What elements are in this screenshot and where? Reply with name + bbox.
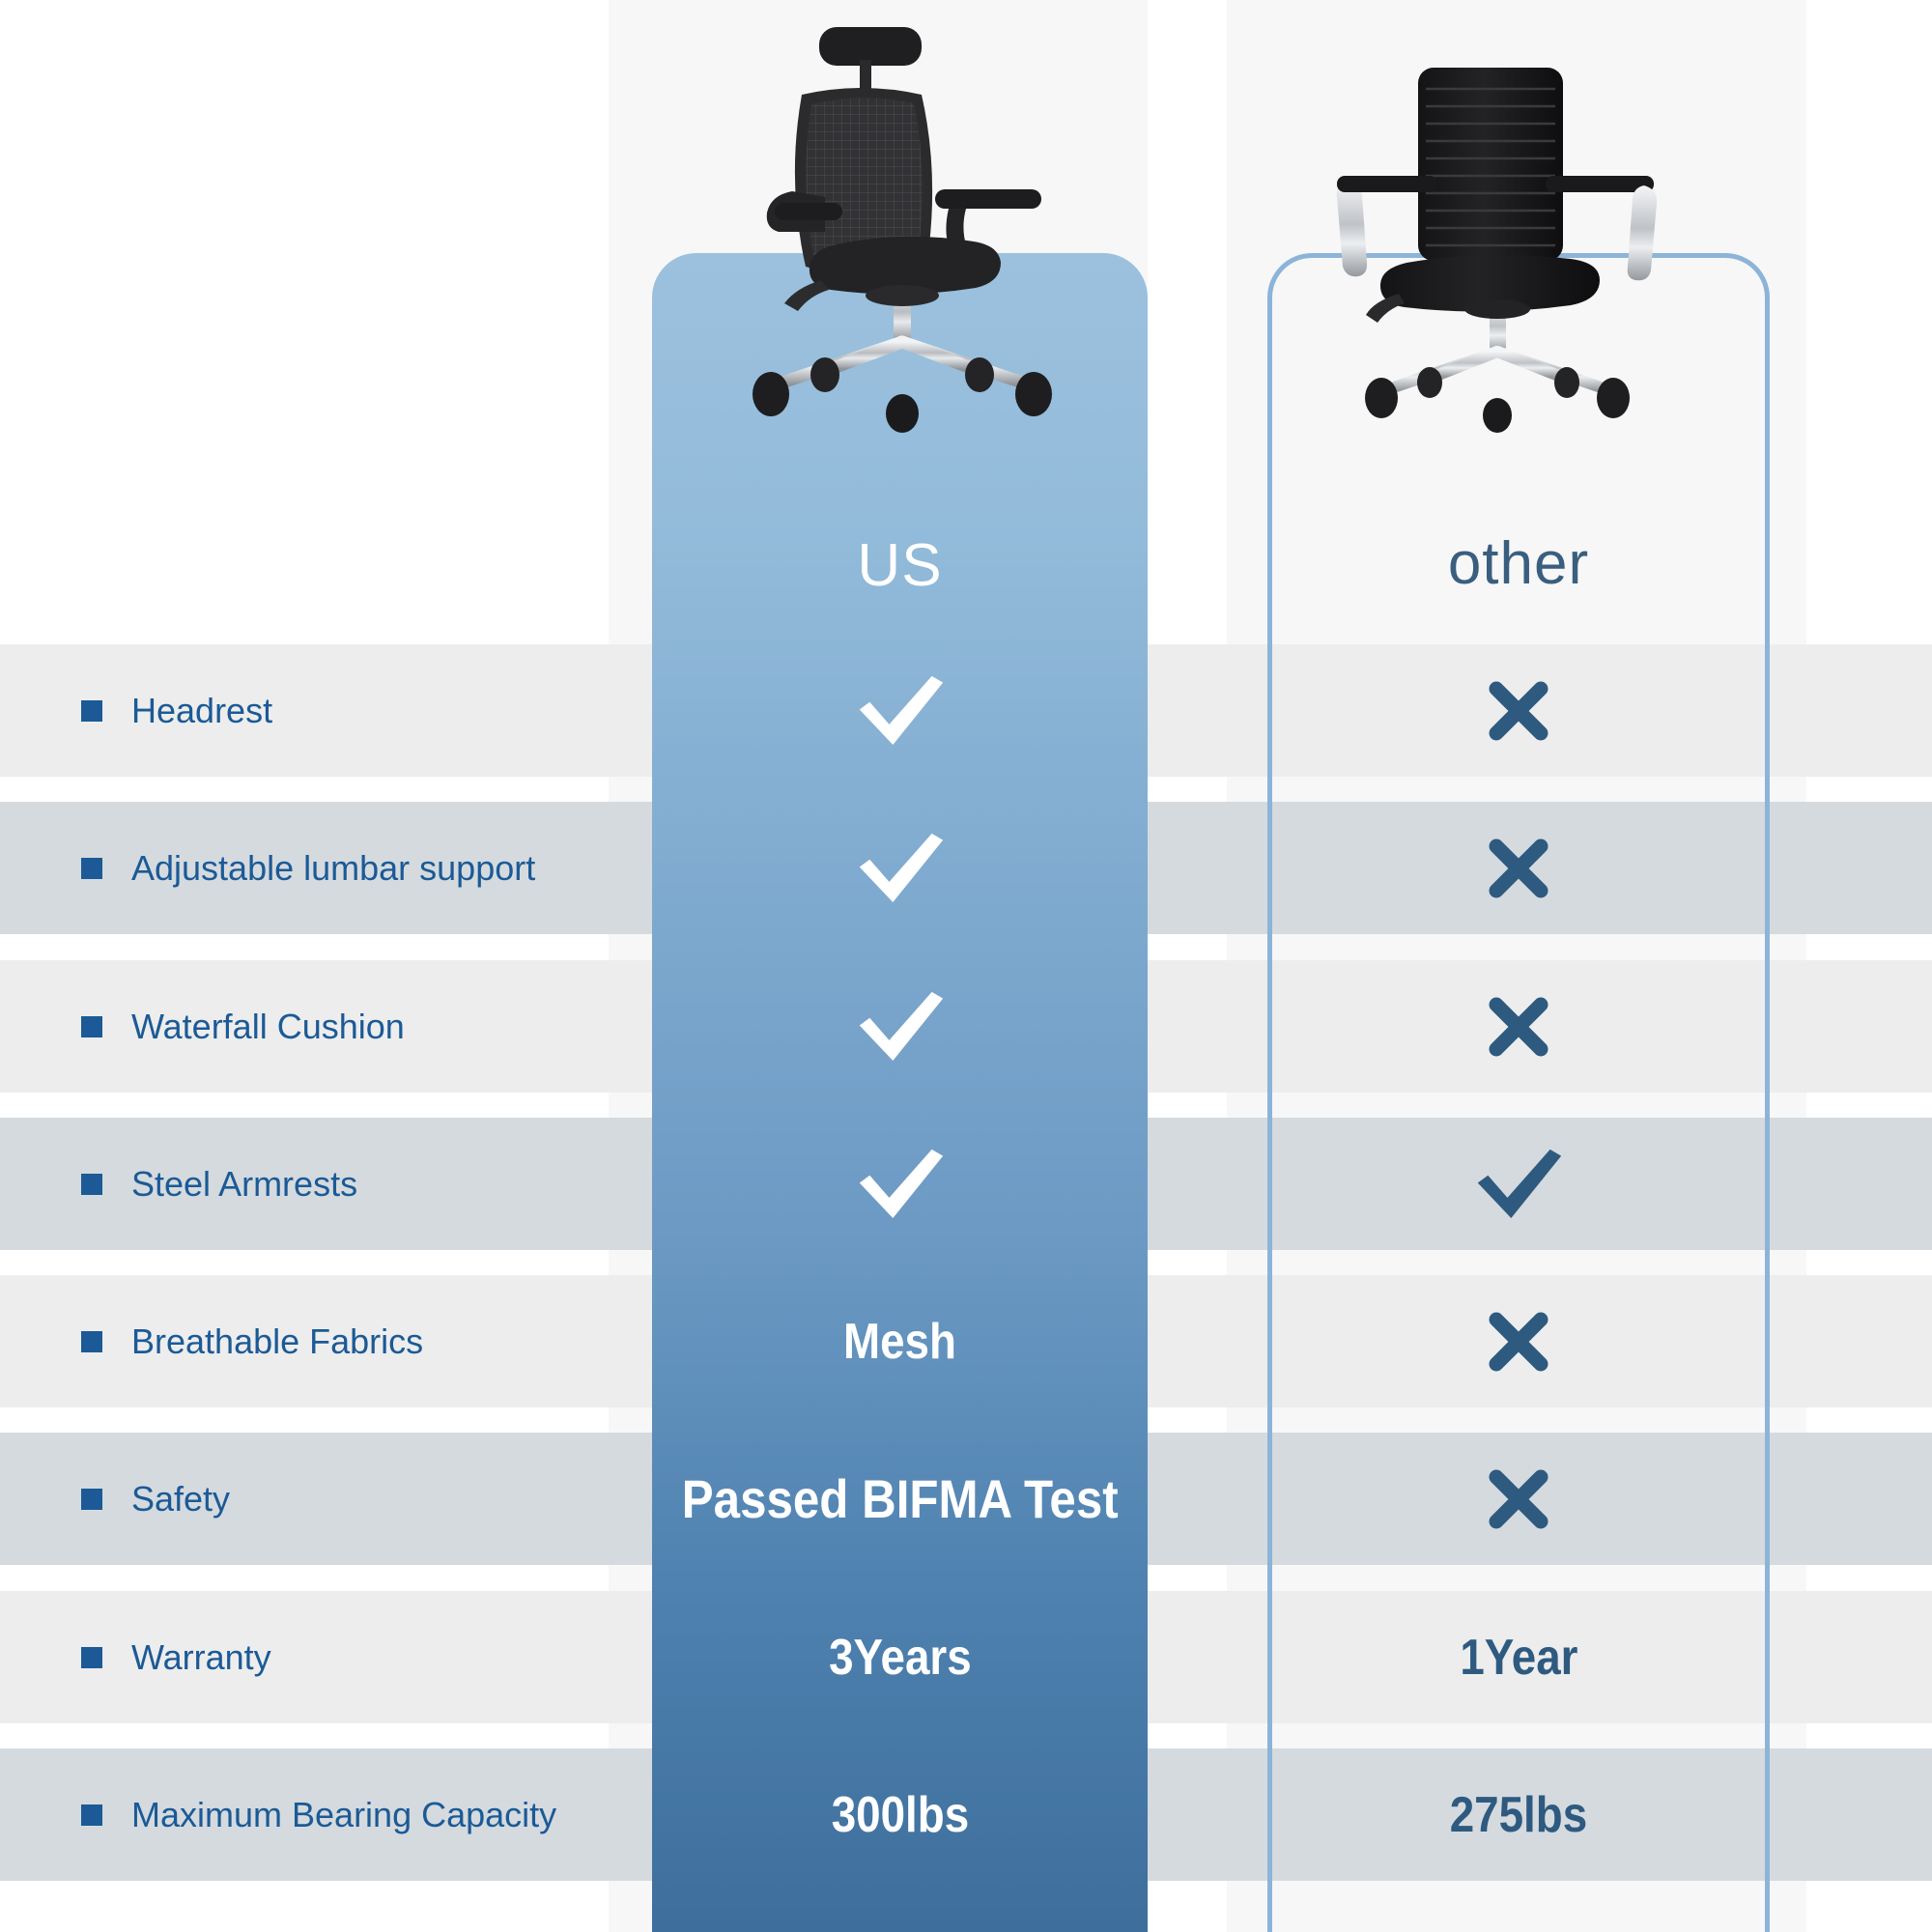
cell-us: Mesh [652,1284,1148,1400]
check-icon [854,1148,947,1220]
cell-us: 3Years [652,1600,1148,1716]
cell-other: 275lbs [1267,1757,1770,1873]
square-bullet-icon [81,1647,102,1668]
cell-value-other: 1Year [1460,1633,1577,1683]
check-icon [1472,1148,1565,1220]
cell-other [1267,1284,1770,1400]
cell-us [652,653,1148,769]
feature-label-text: Breathable Fabrics [131,1324,423,1359]
feature-label-text: Safety [131,1482,230,1517]
us-chair-image [676,10,1130,512]
check-icon [854,674,947,747]
close-icon [1487,995,1550,1059]
feature-label-row: Adjustable lumbar support [81,846,535,891]
feature-label-row: Maximum Bearing Capacity [81,1793,556,1837]
cell-us: Passed BIFMA Test [652,1441,1148,1557]
feature-label-text: Adjustable lumbar support [131,851,535,886]
square-bullet-icon [81,858,102,879]
feature-label-text: Steel Armrests [131,1167,357,1202]
cell-value-us: Passed BIFMA Test [682,1472,1119,1526]
column-heading-us: US [652,536,1148,596]
cell-us [652,969,1148,1085]
square-bullet-icon [81,1174,102,1195]
square-bullet-icon [81,700,102,722]
feature-label-row: Warranty [81,1635,271,1680]
cell-other: 1Year [1267,1600,1770,1716]
cell-other [1267,969,1770,1085]
close-icon [1487,1310,1550,1374]
feature-label-row: Breathable Fabrics [81,1320,423,1364]
other-chair-image [1304,58,1729,473]
feature-label-row: Safety [81,1477,230,1521]
cell-other [1267,653,1770,769]
check-icon [854,990,947,1063]
close-icon [1487,837,1550,900]
feature-label-text: Waterfall Cushion [131,1009,405,1044]
cell-other [1267,810,1770,926]
square-bullet-icon [81,1804,102,1826]
close-icon [1487,1467,1550,1531]
cell-value-us: 3Years [829,1633,972,1683]
feature-label-row: Waterfall Cushion [81,1005,405,1049]
feature-label-row: Headrest [81,689,272,733]
feature-label-text: Headrest [131,694,272,728]
cell-value-other: 275lbs [1450,1790,1587,1840]
square-bullet-icon [81,1331,102,1352]
square-bullet-icon [81,1016,102,1037]
cell-us [652,810,1148,926]
cell-us [652,1126,1148,1242]
square-bullet-icon [81,1489,102,1510]
cell-other [1267,1126,1770,1242]
close-icon [1487,679,1550,743]
column-heading-other: other [1267,534,1770,594]
cell-us: 300lbs [652,1757,1148,1873]
feature-label-text: Warranty [131,1640,271,1675]
feature-label-row: Steel Armrests [81,1162,357,1207]
feature-label-text: Maximum Bearing Capacity [131,1798,556,1833]
cell-value-us: Mesh [843,1317,956,1367]
cell-value-us: 300lbs [831,1790,968,1840]
check-icon [854,832,947,904]
cell-other [1267,1441,1770,1557]
